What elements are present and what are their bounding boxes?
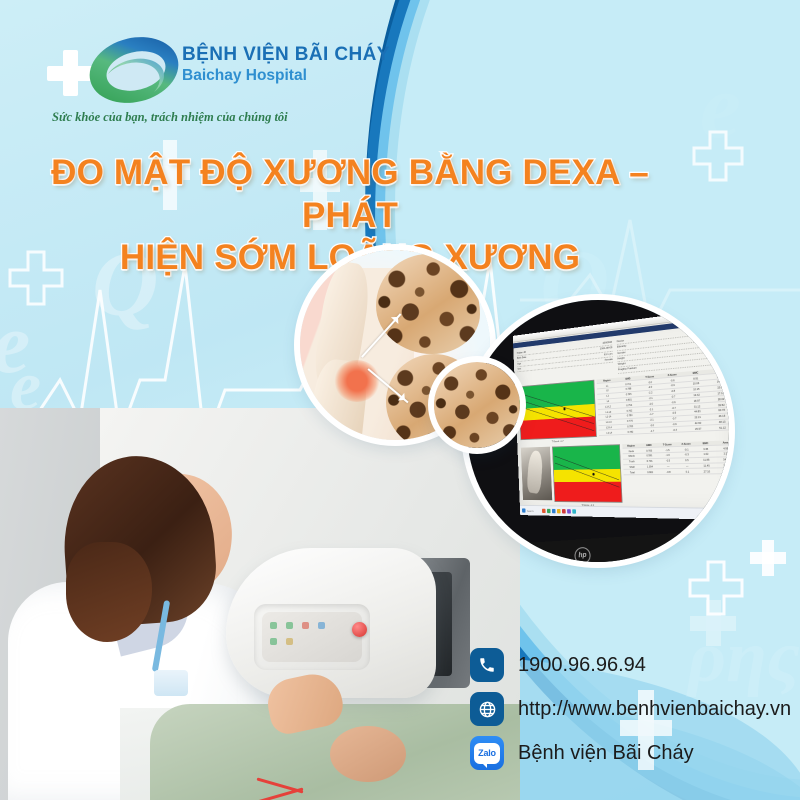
logo-text-block: BỆNH VIỆN BÃI CHÁY Baichay Hospital (182, 44, 390, 85)
table-cell: 4.90 (716, 445, 729, 450)
title-line-1: ĐO MẬT ĐỘ XƯƠNG BẰNG DEXA – PHÁT (51, 153, 649, 235)
field-value: Asian (723, 332, 729, 338)
table-cell: 0.862 (641, 470, 659, 475)
hospital-name-en: Baichay Hospital (182, 67, 390, 85)
zalo-account-name[interactable]: Bệnh viện Bãi Cháy (518, 742, 694, 765)
contact-row-phone[interactable]: 1900.96.96.94 (470, 648, 791, 682)
patient-datapoint (563, 407, 565, 410)
trabecular-bone-detail-photo (434, 362, 520, 448)
scanner-emergency-button[interactable] (352, 622, 367, 637)
monitor-bezel: hp (470, 528, 729, 562)
table-cell: 25.57 (686, 426, 710, 432)
table-cell: Shaft (623, 465, 641, 470)
reference-curves (519, 380, 596, 439)
femur-tscore-chart (552, 444, 622, 503)
phone-icon (470, 648, 504, 682)
table-cell: 1.24 (716, 451, 729, 456)
hp-logo-icon: hp (574, 547, 591, 562)
table-cell: -1.5 (658, 447, 677, 452)
scanner-control-panel[interactable] (254, 604, 370, 670)
contact-row-zalo[interactable]: Zalo Bệnh viện Bãi Cháy (470, 736, 791, 770)
table-cell: L3-L4 (599, 430, 620, 435)
column-header: Z-Score (676, 441, 695, 446)
taskbar-app-icon[interactable] (552, 509, 556, 513)
field-value: No (728, 357, 729, 363)
table-cell: -0.1 (677, 447, 696, 452)
spine-table-body: L10.721-2.0-0.68.9113.67L20.788-2.0-0.61… (597, 373, 729, 436)
doctor-badge (154, 670, 188, 696)
table-cell: 0.731 (641, 459, 659, 464)
table-cell: 0.782 (620, 429, 642, 434)
table-cell: 1.02 (696, 452, 716, 457)
spine-tscore-chart (518, 379, 597, 439)
field-label: Age (517, 361, 521, 366)
cross-outline-icon (686, 560, 746, 620)
pain-highlight (334, 360, 380, 402)
table-cell: -0.3 (659, 458, 678, 463)
dexa-scanner-arm (226, 548, 476, 748)
zalo-bubble: Zalo (474, 743, 500, 764)
field-value: 48.0 kg (722, 351, 729, 357)
table-cell: 11.45 (697, 463, 717, 468)
table-cell: -0.8 (659, 469, 678, 474)
contact-row-website[interactable]: http://www.benhvienbaichay.vn (470, 692, 791, 726)
table-cell: -1.7 (641, 428, 663, 433)
reference-curves (553, 445, 622, 502)
table-cell: — (659, 464, 678, 469)
table-cell: 1.034 (641, 464, 659, 469)
field-value: Female (721, 338, 729, 344)
contact-block: 1900.96.96.94 http://www.benhvienbaichay… (470, 648, 791, 780)
taskbar-app-icon[interactable] (557, 509, 561, 513)
spine-chart-block: T-Score -1.7 (518, 379, 597, 444)
femur-results-table: Region BMD T-Score Z-Score BMC Area Neck… (622, 440, 729, 509)
watermark-glyph: e (700, 60, 741, 152)
taskbar-app-icon[interactable] (547, 509, 551, 513)
table-cell: 0.591 (640, 453, 658, 458)
ring-logo-icon (86, 30, 182, 110)
table-cell: Troch (623, 459, 641, 464)
taskbar-app-icon[interactable] (572, 509, 576, 513)
phone-number[interactable]: 1900.96.96.94 (518, 654, 646, 677)
hospital-logo: BỆNH VIỆN BÃI CHÁY Baichay Hospital Sức … (42, 24, 342, 129)
table-cell: -0.3 (677, 452, 696, 457)
spine-results-table: Region BMD T-Score Z-Score BMC Area L10.… (597, 367, 729, 441)
healthy-bone-texture (376, 254, 480, 354)
scanner-panel-inner (262, 612, 362, 662)
column-header: Region (622, 443, 640, 448)
poster-canvas: e e Q Q ρης e BỆN (0, 0, 800, 800)
dexa-report-screen: Patient ID2900043 Birth Date1961-08-09 A… (513, 307, 729, 521)
table-cell: 46.15 (710, 413, 729, 419)
column-header: Area (715, 440, 729, 445)
cross-solid-icon (690, 600, 736, 646)
table-cell: Wards (623, 454, 641, 459)
taskbar-app-icon[interactable] (542, 509, 546, 513)
table-cell: 0.1 (678, 469, 697, 474)
table-cell: -1.6 (658, 453, 677, 458)
website-url[interactable]: http://www.benhvienbaichay.vn (518, 698, 791, 721)
field-value: Female (605, 357, 613, 363)
table-cell: 11.08 (716, 463, 729, 468)
column-header: BMD (640, 442, 658, 447)
table-cell: 27.10 (697, 469, 717, 474)
field-label: Height (617, 356, 624, 362)
windows-taskbar[interactable]: Search (520, 505, 729, 520)
field-label: Weight (618, 361, 626, 367)
start-icon[interactable] (522, 508, 526, 512)
table-cell: 32.00 (717, 469, 729, 474)
table-row: Total0.862-0.80.127.1032.00 (623, 469, 729, 476)
table-cell: 3.35 (696, 446, 716, 451)
patient-datapoint (592, 472, 594, 475)
femur-xray-image (521, 446, 552, 500)
taskbar-app-icon[interactable] (562, 509, 566, 513)
table-cell: 0.5 (677, 458, 696, 463)
hospital-name: BỆNH VIỆN BÃI CHÁY (182, 44, 390, 66)
zalo-label: Zalo (478, 748, 496, 758)
globe-icon (470, 692, 504, 726)
table-cell: 48.13 (710, 419, 729, 425)
table-cell: Total (623, 470, 641, 475)
hospital-tagline: Sức khỏe của bạn, trách nhiệm của chúng … (52, 110, 288, 125)
scissors-tool (256, 780, 312, 800)
femur-table-body: Neck0.705-1.5-0.13.354.90Wards0.591-1.6-… (622, 445, 729, 475)
table-cell: Neck (622, 448, 640, 453)
watermark-glyph: e (0, 300, 30, 386)
zalo-icon: Zalo (470, 736, 504, 770)
field-value: 150 cm (721, 345, 729, 351)
table-cell: — (678, 463, 697, 468)
table-cell: -0.4 (663, 427, 686, 433)
doctor-operating-dexa-scanner-photo (0, 408, 520, 800)
report-femur-panel: T-Score -1.3 Region BMD T-Score Z-Score … (517, 437, 729, 510)
femur-chart-block: T-Score -1.3 (552, 444, 623, 507)
taskbar-search-label[interactable]: Search (527, 509, 534, 513)
trabecular-texture (434, 362, 520, 448)
field-label: Fragility Fracture (618, 366, 637, 373)
table-cell: 14.42 (716, 457, 729, 462)
column-header: T-Score (658, 442, 677, 447)
table-cell: 11.85 (696, 457, 716, 462)
scanner-body (226, 548, 436, 698)
field-label: Sex (517, 367, 521, 372)
column-header: BMC (696, 440, 716, 445)
table-cell: 51.12 (710, 425, 729, 431)
taskbar-app-icon[interactable] (567, 509, 571, 513)
cross-solid-icon (750, 540, 786, 576)
table-cell: 0.705 (640, 448, 658, 453)
